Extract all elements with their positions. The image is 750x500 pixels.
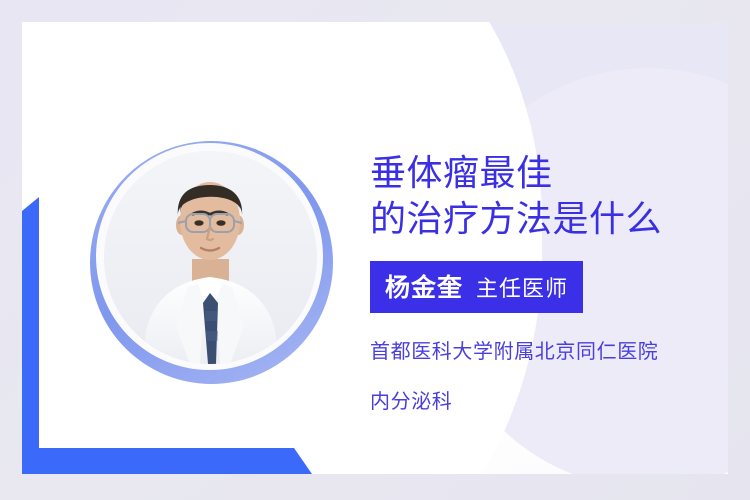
- doctor-info-column: 垂体瘤最佳 的治疗方法是什么 杨金奎 主任医师 首都医科大学附属北京同仁医院 内…: [370, 150, 728, 414]
- accent-bar-bottom: [22, 448, 312, 474]
- doctor-portrait: [90, 141, 333, 384]
- doctor-department: 内分泌科: [370, 385, 728, 414]
- portrait-photo: [104, 151, 317, 364]
- page-title: 垂体瘤最佳 的治疗方法是什么: [370, 150, 728, 242]
- doctor-professional-title: 主任医师: [476, 271, 568, 303]
- doctor-hospital: 首都医科大学附属北京同仁医院: [370, 335, 728, 364]
- accent-bar-left: [22, 197, 39, 474]
- doctor-name-badge: 杨金奎 主任医师: [370, 261, 583, 313]
- doctor-name: 杨金奎: [385, 268, 463, 304]
- card-surface: 垂体瘤最佳 的治疗方法是什么 杨金奎 主任医师 首都医科大学附属北京同仁医院 内…: [22, 22, 728, 474]
- doctor-info-card: 垂体瘤最佳 的治疗方法是什么 杨金奎 主任医师 首都医科大学附属北京同仁医院 内…: [0, 0, 750, 500]
